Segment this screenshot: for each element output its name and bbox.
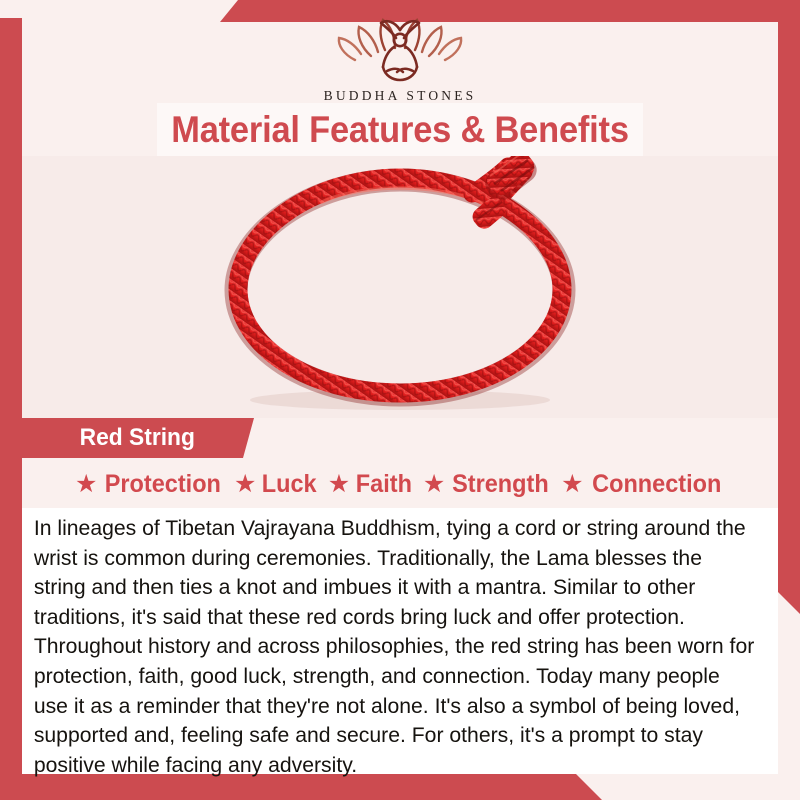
description-panel: In lineages of Tibetan Vajrayana Buddhis… — [22, 508, 778, 774]
benefit-label: Strength — [452, 470, 549, 499]
benefit-label: Protection — [105, 470, 221, 499]
star-icon: ★ — [328, 472, 350, 497]
red-string-bracelet-image — [172, 156, 632, 418]
benefit-label: Luck — [262, 470, 317, 499]
description-paragraph: In lineages of Tibetan Vajrayana Buddhis… — [22, 508, 767, 780]
material-ribbon: Red String — [22, 418, 254, 458]
benefit-label: Faith — [356, 470, 412, 499]
benefit-item-faith: ★ Faith — [328, 470, 414, 499]
star-icon: ★ — [75, 472, 97, 497]
benefit-item-connection: ★ Connection — [561, 470, 725, 499]
benefit-item-luck: ★ Luck — [234, 470, 319, 499]
title-banner: Material Features & Benefits — [157, 103, 643, 156]
brand-logo: BUDDHA STONES — [0, 14, 800, 104]
benefits-list: ★ Protection ★ Luck ★ Faith ★ Strength ★… — [22, 464, 778, 504]
material-label: Red String — [26, 424, 194, 452]
star-icon: ★ — [234, 472, 256, 497]
benefit-item-protection: ★ Protection — [75, 470, 225, 499]
decor-bar-left — [0, 18, 22, 800]
lotus-meditation-icon — [325, 14, 475, 86]
star-icon: ★ — [561, 472, 583, 497]
poster-canvas: BUDDHA STONES Material Features & Benefi… — [0, 0, 800, 800]
star-icon: ★ — [423, 472, 445, 497]
product-photo — [22, 156, 778, 418]
benefit-item-strength: ★ Strength — [423, 470, 552, 499]
page-title: Material Features & Benefits — [171, 109, 629, 151]
benefit-label: Connection — [592, 470, 721, 499]
brand-wordmark: BUDDHA STONES — [0, 88, 800, 104]
